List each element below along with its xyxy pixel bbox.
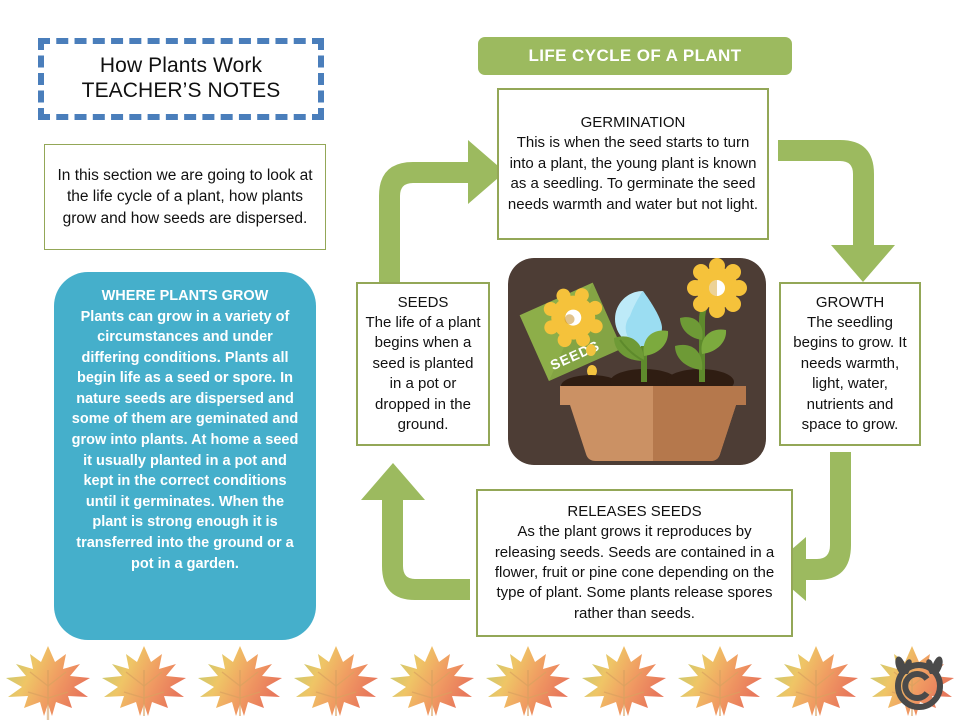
cycle-node-growth-body: The seedling begins to grow. It needs wa… bbox=[788, 313, 912, 435]
copyright-moose-logo bbox=[886, 650, 952, 712]
cycle-node-releases-seeds-heading: RELEASES SEEDS bbox=[567, 502, 701, 522]
cycle-node-seeds-body: The life of a plant begins when a seed i… bbox=[365, 313, 481, 435]
arrow-releases-to-seeds bbox=[361, 463, 470, 600]
maple-leaf-decoration bbox=[192, 642, 288, 720]
plant-pot-icon bbox=[560, 386, 746, 461]
maple-leaf-decoration bbox=[576, 642, 672, 720]
arrow-germination-to-growth bbox=[778, 140, 895, 282]
illustration-background: SEEDS bbox=[508, 258, 766, 465]
cycle-node-germination[interactable]: GERMINATION This is when the seed starts… bbox=[497, 88, 769, 240]
maple-leaf-decoration bbox=[0, 642, 96, 720]
maple-leaf-decoration bbox=[672, 642, 768, 720]
worksheet-page: How Plants Work TEACHER’S NOTES In this … bbox=[0, 0, 960, 720]
cycle-node-growth[interactable]: GROWTH The seedling begins to grow. It n… bbox=[779, 282, 921, 446]
cycle-node-germination-body: This is when the seed starts to turn int… bbox=[506, 133, 760, 215]
maple-leaf-decoration bbox=[384, 642, 480, 720]
cycle-node-releases-seeds[interactable]: RELEASES SEEDS As the plant grows it rep… bbox=[476, 489, 793, 637]
cycle-node-releases-seeds-body: As the plant grows it reproduces by rele… bbox=[485, 522, 784, 624]
cycle-node-germination-heading: GERMINATION bbox=[581, 113, 686, 133]
maple-leaf-decoration bbox=[288, 642, 384, 720]
maple-leaf-decoration bbox=[768, 642, 864, 720]
cycle-node-seeds-heading: SEEDS bbox=[398, 293, 449, 313]
maple-leaf-decoration bbox=[96, 642, 192, 720]
arrow-seeds-to-germination bbox=[379, 140, 505, 290]
seed-packet-plant-pot-illustration: SEEDS bbox=[508, 258, 766, 465]
maple-leaf-border bbox=[0, 642, 960, 720]
maple-leaf-decoration bbox=[480, 642, 576, 720]
cycle-node-seeds[interactable]: SEEDS The life of a plant begins when a … bbox=[356, 282, 490, 446]
cycle-node-growth-heading: GROWTH bbox=[816, 293, 884, 313]
